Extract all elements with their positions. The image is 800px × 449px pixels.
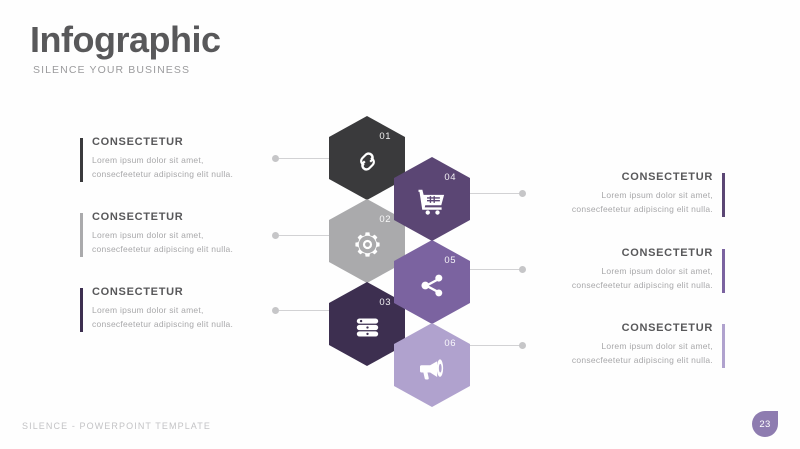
page-title: Infographic <box>30 22 221 58</box>
megaphone-icon <box>417 353 447 383</box>
info-block-heading: CONSECTETUR <box>92 136 292 148</box>
hexagon-step-02[interactable]: 02 <box>329 199 405 283</box>
hexagon-step-01[interactable]: 01 <box>329 116 405 200</box>
hexagon-step-05[interactable]: 05 <box>394 240 470 324</box>
info-block-right-3[interactable]: CONSECTETUR Lorem ipsum dolor sit amet, … <box>513 322 725 367</box>
accent-bar <box>80 138 83 182</box>
info-block-heading: CONSECTETUR <box>92 211 292 223</box>
accent-bar <box>80 288 83 332</box>
info-block-left-1[interactable]: CONSECTETUR Lorem ipsum dolor sit amet, … <box>80 136 292 181</box>
info-block-heading: CONSECTETUR <box>513 171 713 183</box>
info-block-line-1: Lorem ipsum dolor sit amet, <box>92 153 292 167</box>
info-block-line-1: Lorem ipsum dolor sit amet, <box>513 339 713 353</box>
hexagon-number: 03 <box>379 297 391 308</box>
info-block-line-1: Lorem ipsum dolor sit amet, <box>92 303 292 317</box>
cart-icon <box>417 187 447 217</box>
info-block-heading: CONSECTETUR <box>513 322 713 334</box>
hexagon-number: 06 <box>444 338 456 349</box>
gear-icon <box>352 229 382 259</box>
info-block-heading: CONSECTETUR <box>513 247 713 259</box>
info-block-line-2: consecfeetetur adipiscing elit nulla. <box>92 317 292 331</box>
info-block-line-2: consecfeetetur adipiscing elit nulla. <box>513 278 713 292</box>
hexagon-step-03[interactable]: 03 <box>329 282 405 366</box>
info-block-line-2: consecfeetetur adipiscing elit nulla. <box>513 202 713 216</box>
link-icon <box>352 146 382 176</box>
info-block-right-2[interactable]: CONSECTETUR Lorem ipsum dolor sit amet, … <box>513 247 725 292</box>
info-block-line-1: Lorem ipsum dolor sit amet, <box>92 228 292 242</box>
hexagon-number: 02 <box>379 214 391 225</box>
info-block-line-2: consecfeetetur adipiscing elit nulla. <box>92 167 292 181</box>
hexagon-number: 04 <box>444 172 456 183</box>
info-block-line-2: consecfeetetur adipiscing elit nulla. <box>92 242 292 256</box>
hexagon-step-06[interactable]: 06 <box>394 323 470 407</box>
info-block-line-2: consecfeetetur adipiscing elit nulla. <box>513 353 713 367</box>
info-block-left-2[interactable]: CONSECTETUR Lorem ipsum dolor sit amet, … <box>80 211 292 256</box>
accent-bar <box>722 173 725 217</box>
share-icon <box>417 270 447 300</box>
page-number-badge: 23 <box>752 411 778 437</box>
info-block-heading: CONSECTETUR <box>92 286 292 298</box>
accent-bar <box>722 249 725 293</box>
server-icon <box>352 312 382 342</box>
hexagon-number: 01 <box>379 131 391 142</box>
info-block-line-1: Lorem ipsum dolor sit amet, <box>513 188 713 202</box>
hexagon-step-04[interactable]: 04 <box>394 157 470 241</box>
page-subtitle: SILENCE YOUR BUSINESS <box>33 64 190 76</box>
accent-bar <box>722 324 725 368</box>
hexagon-number: 05 <box>444 255 456 266</box>
info-block-left-3[interactable]: CONSECTETUR Lorem ipsum dolor sit amet, … <box>80 286 292 331</box>
footer-label: SILENCE - POWERPOINT TEMPLATE <box>22 421 211 431</box>
accent-bar <box>80 213 83 257</box>
info-block-right-1[interactable]: CONSECTETUR Lorem ipsum dolor sit amet, … <box>513 171 725 216</box>
info-block-line-1: Lorem ipsum dolor sit amet, <box>513 264 713 278</box>
